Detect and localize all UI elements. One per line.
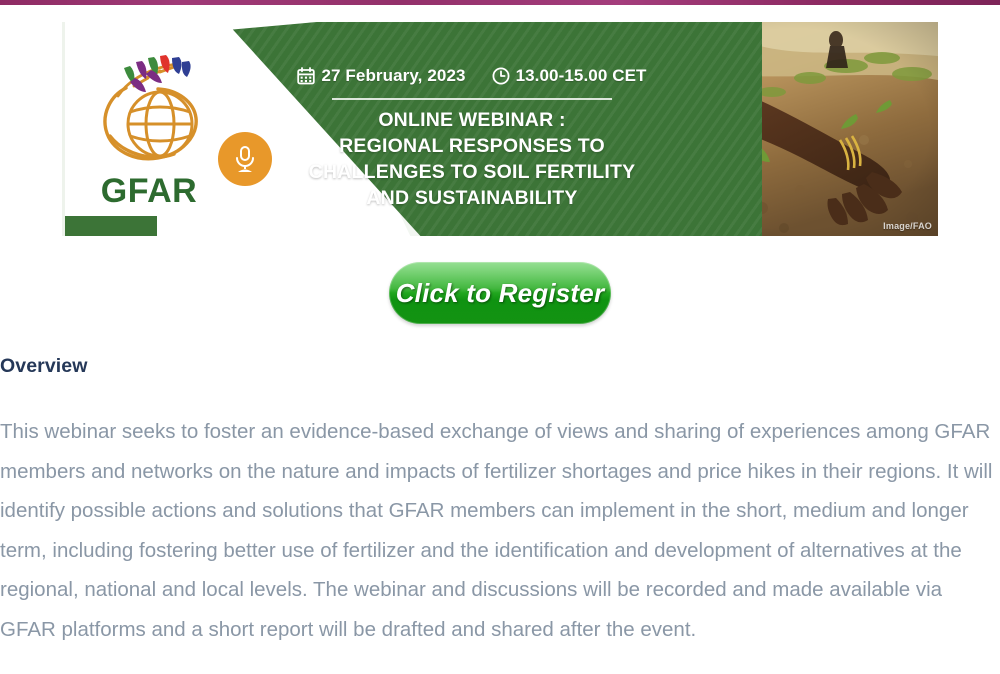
clock-icon xyxy=(492,67,510,85)
banner-date: 27 February, 2023 xyxy=(297,66,465,86)
webinar-banner[interactable]: Image/FAO xyxy=(62,22,938,236)
banner-title-line-4: AND SUSTAINABILITY xyxy=(262,186,682,212)
banner-title-line-3: CHALLENGES TO SOIL FERTILITY xyxy=(262,160,682,186)
register-button-row: Click to Register xyxy=(0,262,1000,324)
banner-title: ONLINE WEBINAR : REGIONAL RESPONSES TO C… xyxy=(262,108,682,212)
banner-time: 13.00-15.00 CET xyxy=(492,66,647,86)
banner-green-bar xyxy=(65,216,157,236)
click-to-register-button[interactable]: Click to Register xyxy=(389,262,611,324)
calendar-icon xyxy=(297,67,315,85)
banner-text-block: 27 February, 2023 13.00-15.00 CET ONLINE… xyxy=(262,22,682,236)
microphone-badge xyxy=(218,132,272,186)
gfar-logo[interactable]: GFAR xyxy=(90,44,208,212)
banner-date-text: 27 February, 2023 xyxy=(321,66,465,86)
banner-meta-row: 27 February, 2023 13.00-15.00 CET xyxy=(262,66,682,86)
banner-time-text: 13.00-15.00 CET xyxy=(516,66,647,86)
overview-body: This webinar seeks to foster an evidence… xyxy=(0,412,1000,649)
banner-left-rule xyxy=(62,22,65,236)
microphone-icon xyxy=(231,144,259,174)
gfar-wordmark: GFAR xyxy=(90,174,208,208)
gfar-globe-icon xyxy=(90,44,208,176)
banner-title-line-1: ONLINE WEBINAR : xyxy=(262,108,682,134)
photo-credit: Image/FAO xyxy=(883,221,932,231)
banner-title-line-2: REGIONAL RESPONSES TO xyxy=(262,134,682,160)
overview-heading: Overview xyxy=(0,355,1000,378)
overview-section: Overview This webinar seeks to foster an… xyxy=(0,355,1000,649)
top-accent-bar xyxy=(0,0,1000,5)
banner-divider xyxy=(332,98,612,100)
